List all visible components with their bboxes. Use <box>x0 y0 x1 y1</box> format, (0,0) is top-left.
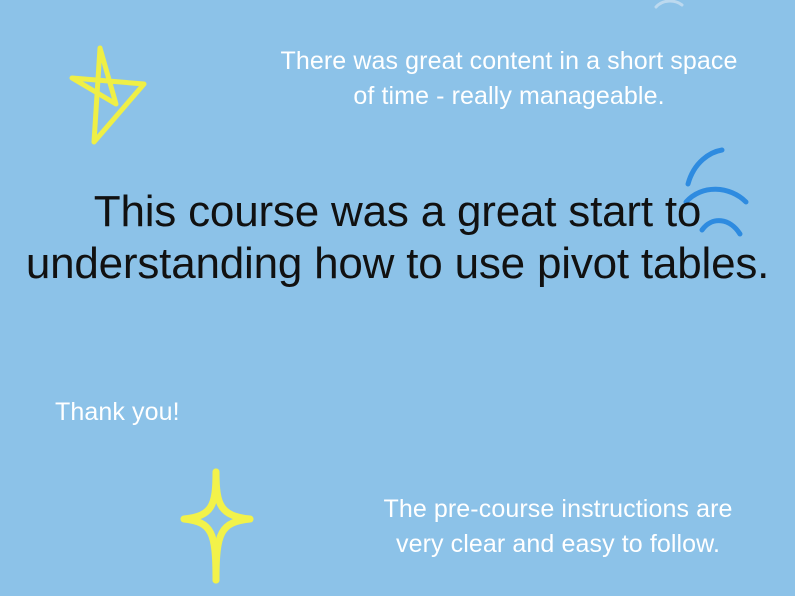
sparkle-icon <box>172 466 268 586</box>
speck-icon <box>652 0 686 10</box>
thank-you-text: Thank you! <box>55 396 180 429</box>
testimonial-slide: There was great content in a short space… <box>0 0 795 596</box>
testimonial-quote-top: There was great content in a short space… <box>248 44 770 113</box>
star-outline-icon <box>56 38 160 150</box>
headline-text: This course was a great start to underst… <box>0 186 795 290</box>
testimonial-quote-bottom: The pre-course instructions are very cle… <box>348 492 768 561</box>
